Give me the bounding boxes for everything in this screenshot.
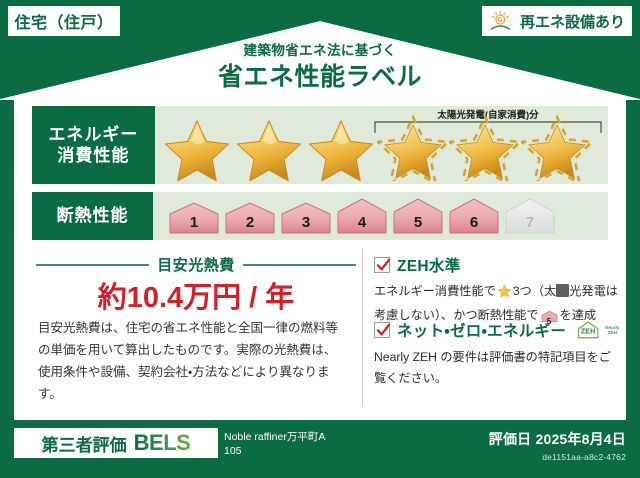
building-type-label: 住宅（住戸） xyxy=(14,9,113,33)
net-zero-energy-header: ネット・ゼロ・エネルギー ZEH Nearly ZEH xyxy=(374,318,620,342)
zeh-text-part2: 3つ（太 xyxy=(513,284,556,298)
heading-rule-right xyxy=(243,264,356,266)
renewable-equipment-label: 再エネ設備あり xyxy=(520,11,625,32)
utility-cost-note: 目安光熱費は、住宅の省エネ性能と全国一律の燃料等の単価を用いて算出したものです。… xyxy=(38,318,348,406)
insulation-level-number: 1 xyxy=(167,214,221,231)
utility-cost-heading: 目安光熱費 xyxy=(36,254,356,275)
evaluation-date-info: 評価日 2025年8月4日 de1151aa-a8c2-4762 xyxy=(489,429,626,462)
insulation-scale-area: 1 2 3 xyxy=(153,192,608,240)
check-icon xyxy=(376,258,391,273)
energy-label-line1: エネルギー xyxy=(48,124,138,145)
net-zero-energy-block: ネット・ゼロ・エネルギー ZEH Nearly ZEH Nearly ZEH の… xyxy=(374,318,620,388)
insulation-level-number: 2 xyxy=(223,214,277,231)
zeh-standard-header: ZEH水準 xyxy=(374,254,620,276)
energy-label-line2: 消費性能 xyxy=(57,145,129,166)
zeh-text-part1: エネルギー消費性能で xyxy=(374,284,496,298)
renewable-equipment-tag: 再エネ設備あり xyxy=(482,6,632,36)
net-zero-energy-checkbox[interactable] xyxy=(374,322,390,338)
title-subtitle: 建築物省エネ法に基づく xyxy=(0,44,640,59)
heading-rule-left xyxy=(36,264,149,266)
insulation-house-3: 3 xyxy=(279,201,333,235)
property-info: Noble raffiner万平町A 105 xyxy=(224,430,474,458)
bels-en-label: BELS xyxy=(134,430,191,456)
insulation-level-number: 5 xyxy=(391,214,445,231)
insulation-house-2: 2 xyxy=(223,201,277,235)
insulation-level-number: 4 xyxy=(335,214,389,231)
star-solar-5 xyxy=(449,115,521,181)
title-main: 省エネ性能ラベル xyxy=(0,62,640,92)
star-solar-6 xyxy=(521,115,593,181)
insulation-performance-label-box: 断熱性能 xyxy=(32,192,153,240)
energy-performance-row: エネルギー 消費性能 太陽光発電(自家消費)分 xyxy=(32,106,608,184)
energy-performance-label-box: エネルギー 消費性能 xyxy=(32,106,155,184)
property-name: Noble raffiner万平町A xyxy=(224,430,474,444)
zeh-house-logo: ZEH Nearly ZEH xyxy=(576,318,622,342)
svg-text:ZEH: ZEH xyxy=(581,326,596,335)
evaluation-id: de1151aa-a8c2-4762 xyxy=(489,452,626,462)
label-title: 建築物省エネ法に基づく 省エネ性能ラベル xyxy=(0,44,640,92)
insulation-house-7: 7 xyxy=(503,197,557,235)
net-zero-energy-title: ネット・ゼロ・エネルギー xyxy=(397,319,566,341)
insulation-house-6: 6 xyxy=(447,197,501,235)
building-type-tag: 住宅（住戸） xyxy=(8,6,120,36)
utility-cost-title: 目安光熱費 xyxy=(157,254,235,275)
star-solar-4 xyxy=(377,115,449,181)
insulation-level-number: 7 xyxy=(503,214,557,231)
bels-badge: 第三者評価 BELS xyxy=(14,428,218,458)
energy-performance-label: 住宅（住戸） 再エネ設備あり 建築物省エネ法に基づく 省エネ性能ラベル エネルギ… xyxy=(0,0,640,478)
insulation-level-number: 3 xyxy=(279,214,333,231)
insulation-level-number: 6 xyxy=(447,214,501,231)
star-filled-3 xyxy=(305,115,377,181)
property-unit: 105 xyxy=(224,444,474,458)
insulation-label: 断熱性能 xyxy=(56,205,128,226)
insulation-performance-row: 断熱性能 xyxy=(32,192,608,240)
solar-sun-icon xyxy=(489,10,515,32)
insulation-house-4: 4 xyxy=(335,197,389,235)
utility-cost-value: 約10.4万円 / 年 xyxy=(36,274,356,316)
label-body-card: エネルギー 消費性能 太陽光発電(自家消費)分 xyxy=(14,96,626,420)
redacted-character xyxy=(556,284,569,297)
star-filled-1 xyxy=(161,115,233,181)
label-footer: 第三者評価 BELS Noble raffiner万平町A 105 評価日 20… xyxy=(0,424,640,478)
insulation-house-1: 1 xyxy=(167,201,221,235)
energy-stars-area: 太陽光発電(自家消費)分 xyxy=(155,106,608,184)
net-zero-energy-text: Nearly ZEH の要件は評価書の特記項目をご覧ください。 xyxy=(374,347,620,388)
bels-jp-label: 第三者評価 xyxy=(42,431,127,456)
check-icon xyxy=(376,323,391,338)
insulation-house-scale: 1 2 3 xyxy=(167,197,557,235)
insulation-house-5: 5 xyxy=(391,197,445,235)
section-divider xyxy=(362,248,363,406)
evaluation-date: 評価日 2025年8月4日 xyxy=(489,429,626,449)
star-filled-2 xyxy=(233,115,305,181)
inline-star-icon xyxy=(497,283,512,305)
zeh-logo-sub: Nearly ZEH xyxy=(602,325,622,336)
zeh-standard-checkbox[interactable] xyxy=(374,257,390,273)
zeh-standard-title: ZEH水準 xyxy=(397,254,461,276)
star-rating xyxy=(161,115,593,181)
zeh-logo-icon: ZEH xyxy=(576,318,600,342)
